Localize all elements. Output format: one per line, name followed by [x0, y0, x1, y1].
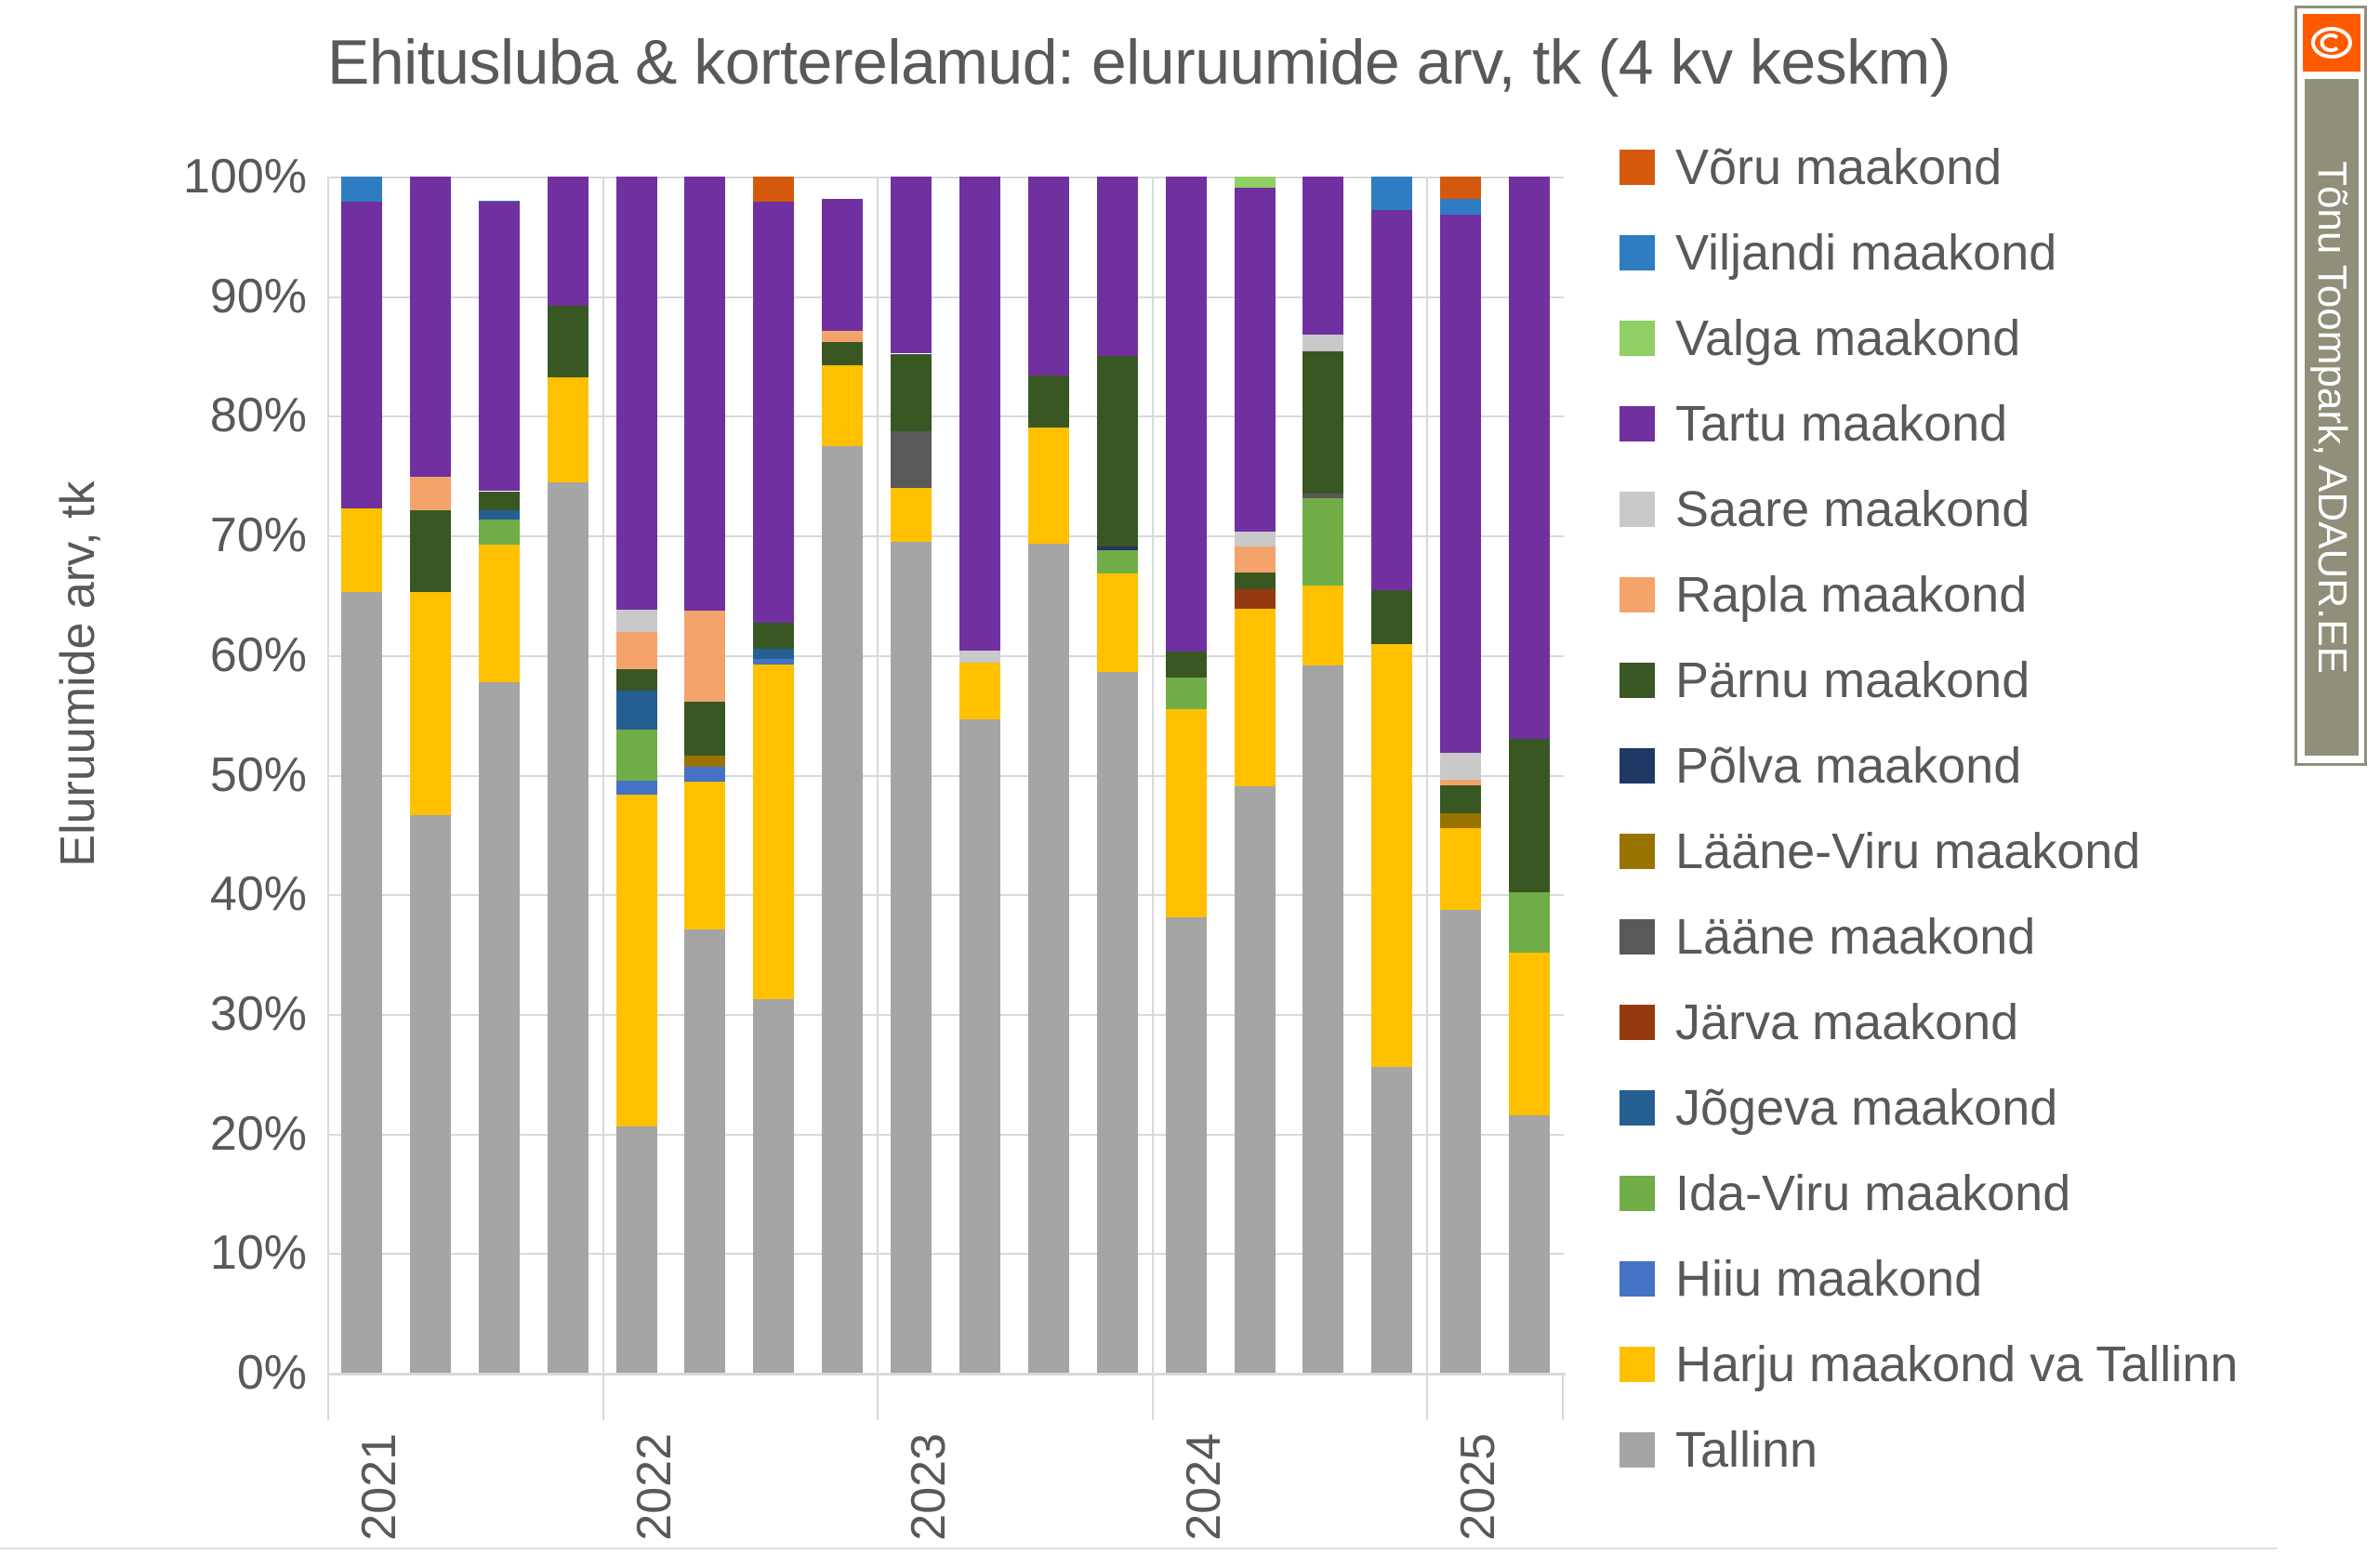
bar-segment[interactable]	[1235, 188, 1276, 533]
bar-2021Q2[interactable]	[410, 177, 451, 1373]
bar-segment[interactable]	[1166, 177, 1207, 652]
bar-segment[interactable]	[1166, 917, 1207, 1373]
bar-segment[interactable]	[479, 492, 520, 511]
bar-segment[interactable]	[1440, 177, 1481, 199]
legend-swatch-icon	[1620, 1005, 1655, 1040]
y-tick-label: 50%	[112, 751, 307, 799]
legend-item-harju-maakond-va-tallinn[interactable]: Harju maakond va Tallinn	[1620, 1337, 2238, 1392]
bar-segment[interactable]	[341, 508, 382, 592]
legend-swatch-icon	[1620, 150, 1655, 185]
bar-segment[interactable]	[1235, 573, 1276, 589]
legend-item-p-rnu-maakond[interactable]: Pärnu maakond	[1620, 652, 2030, 708]
y-axis-title: Eluruumide arv, tk	[46, 414, 111, 934]
bar-2022Q4[interactable]	[822, 177, 863, 1373]
x-tick-label-2025: 2025	[1454, 1433, 1502, 1541]
bar-2023Q2[interactable]	[959, 177, 1000, 1373]
bar-segment[interactable]	[1028, 428, 1069, 544]
bar-segment[interactable]	[1028, 177, 1069, 375]
bar-segment[interactable]	[753, 665, 794, 999]
bar-segment[interactable]	[1097, 573, 1138, 672]
bar-segment[interactable]	[822, 365, 863, 445]
legend-item-v-ru-maakond[interactable]: Võru maakond	[1620, 139, 2002, 195]
legend-swatch-icon	[1620, 1261, 1655, 1297]
bar-segment[interactable]	[891, 354, 932, 432]
bar-segment[interactable]	[1097, 547, 1138, 550]
y-tick-label: 100%	[112, 152, 307, 201]
bar-segment[interactable]	[616, 795, 657, 1126]
bar-segment[interactable]	[1440, 910, 1481, 1373]
bar-segment[interactable]	[1509, 892, 1550, 954]
bar-segment[interactable]	[1235, 532, 1276, 546]
y-tick-label: 80%	[112, 391, 307, 440]
legend-label: Viljandi maakond	[1675, 225, 2056, 281]
bar-segment[interactable]	[753, 659, 794, 665]
bar-segment[interactable]	[479, 545, 520, 682]
bar-segment[interactable]	[1509, 1115, 1550, 1373]
bar-2022Q2[interactable]	[684, 177, 725, 1373]
x-tick-mark	[1562, 1376, 1564, 1420]
legend-item-j-rva-maakond[interactable]: Järva maakond	[1620, 994, 2018, 1050]
legend-swatch-icon	[1620, 663, 1655, 698]
bar-segment[interactable]	[959, 663, 1000, 720]
x-tick-label-2024: 2024	[1180, 1433, 1228, 1541]
bar-segment[interactable]	[410, 477, 451, 510]
bar-segment[interactable]	[616, 632, 657, 669]
bar-segment[interactable]	[822, 446, 863, 1373]
bar-segment[interactable]	[684, 177, 725, 611]
watermark-bar: Tõnu Toompark, ADAUR.EE	[2303, 77, 2360, 757]
x-tick-label-2022: 2022	[630, 1433, 679, 1541]
legend-label: Saare maakond	[1675, 481, 2030, 537]
bar-segment[interactable]	[1509, 953, 1550, 1115]
bar-segment[interactable]	[616, 177, 657, 610]
legend-swatch-icon	[1620, 577, 1655, 612]
legend-swatch-icon	[1620, 1090, 1655, 1126]
bar-segment[interactable]	[1235, 589, 1276, 609]
legend-label: Valga maakond	[1675, 310, 2020, 366]
y-tick-label: 60%	[112, 631, 307, 679]
legend-item-j-geva-maakond[interactable]: Jõgeva maakond	[1620, 1080, 2057, 1136]
legend-swatch-icon	[1620, 235, 1655, 270]
bar-segment[interactable]	[1371, 590, 1412, 644]
bar-segment[interactable]	[1509, 177, 1550, 739]
bar-segment[interactable]	[410, 510, 451, 592]
watermark: Tõnu Toompark, ADAUR.EE	[2294, 6, 2367, 766]
copyright-icon	[2303, 14, 2360, 72]
legend-label: Hiiu maakond	[1675, 1251, 1982, 1307]
bar-2023Q1[interactable]	[891, 177, 932, 1373]
y-tick-label: 30%	[112, 990, 307, 1038]
legend-item-hiiu-maakond[interactable]: Hiiu maakond	[1620, 1251, 1982, 1307]
bar-segment[interactable]	[1302, 335, 1343, 351]
bar-segment[interactable]	[753, 177, 794, 202]
legend-label: Ida-Viru maakond	[1675, 1165, 2070, 1221]
bar-segment[interactable]	[1302, 351, 1343, 494]
bar-2022Q1[interactable]	[616, 177, 657, 1373]
bar-segment[interactable]	[1302, 665, 1343, 1373]
bar-segment[interactable]	[822, 331, 863, 342]
legend-item-l-ne-maakond[interactable]: Lääne maakond	[1620, 909, 2035, 965]
bar-segment[interactable]	[548, 482, 588, 1373]
bar-segment[interactable]	[410, 592, 451, 816]
bar-segment[interactable]	[616, 1126, 657, 1373]
bar-segment[interactable]	[410, 815, 451, 1373]
bar-segment[interactable]	[1302, 586, 1343, 665]
bar-segment[interactable]	[1097, 177, 1138, 356]
bar-segment[interactable]	[684, 929, 725, 1373]
y-tick-label: 90%	[112, 272, 307, 321]
bar-segment[interactable]	[616, 781, 657, 795]
legend-swatch-icon	[1620, 492, 1655, 527]
legend-label: Pärnu maakond	[1675, 652, 2030, 708]
bar-2024Q1[interactable]	[1166, 177, 1207, 1373]
bar-2021Q4[interactable]	[548, 177, 588, 1373]
bar-2025Q1[interactable]	[1440, 177, 1481, 1373]
bar-segment[interactable]	[1235, 609, 1276, 787]
legend-item-tartu-maakond[interactable]: Tartu maakond	[1620, 396, 2007, 452]
chart-bottom-rule	[0, 1547, 2278, 1549]
bar-segment[interactable]	[959, 651, 1000, 663]
bar-segment[interactable]	[479, 682, 520, 1373]
x-tick-mark	[1426, 1376, 1428, 1420]
x-tick-mark	[877, 1376, 879, 1420]
bar-segment[interactable]	[891, 488, 932, 542]
legend-item-viljandi-maakond[interactable]: Viljandi maakond	[1620, 225, 2056, 281]
legend-label: Lääne maakond	[1675, 909, 2035, 965]
bar-segment[interactable]	[753, 649, 794, 658]
y-tick-label: 20%	[112, 1110, 307, 1158]
bar-2024Q2[interactable]	[1235, 177, 1276, 1373]
bar-segment[interactable]	[1166, 678, 1207, 708]
legend-item-tallinn[interactable]: Tallinn	[1620, 1422, 1818, 1478]
bar-segment[interactable]	[1440, 813, 1481, 829]
group-separator	[327, 177, 329, 1373]
page-title: Ehitusluba & korterelamud: eluruumide ar…	[167, 20, 2110, 104]
bar-segment[interactable]	[548, 377, 588, 482]
bar-segment[interactable]	[684, 782, 725, 928]
bar-segment[interactable]	[341, 177, 382, 202]
bar-segment[interactable]	[1235, 786, 1276, 1373]
bar-segment[interactable]	[616, 669, 657, 691]
bar-segment[interactable]	[1440, 780, 1481, 785]
bar-segment[interactable]	[959, 177, 1000, 651]
x-tick-label-2023: 2023	[905, 1433, 953, 1541]
bar-segment[interactable]	[1235, 547, 1276, 573]
bar-segment[interactable]	[891, 431, 932, 487]
bar-segment[interactable]	[479, 201, 520, 202]
bar-segment[interactable]	[1302, 177, 1343, 335]
legend-label: Harju maakond va Tallinn	[1675, 1337, 2238, 1392]
chart-page: Ehitusluba & korterelamud: eluruumide ar…	[0, 0, 2380, 1554]
legend-label: Jõgeva maakond	[1675, 1080, 2057, 1136]
legend-label: Tallinn	[1675, 1422, 1818, 1478]
bar-segment[interactable]	[684, 756, 725, 767]
legend-swatch-icon	[1620, 1347, 1655, 1382]
legend-label: Tartu maakond	[1675, 396, 2007, 452]
legend: Võru maakondViljandi maakondValga maakon…	[1620, 139, 2270, 1515]
bar-segment[interactable]	[1371, 1067, 1412, 1373]
bar-segment[interactable]	[1097, 672, 1138, 1373]
bar-segment[interactable]	[1302, 498, 1343, 586]
y-tick-label: 70%	[112, 511, 307, 560]
group-separator	[1426, 177, 1428, 1373]
legend-label: Järva maakond	[1675, 994, 2018, 1050]
bar-segment[interactable]	[1509, 739, 1550, 892]
bar-segment[interactable]	[1440, 215, 1481, 753]
bar-segment[interactable]	[959, 719, 1000, 1373]
bar-2025Q2[interactable]	[1509, 177, 1550, 1373]
y-tick-label: 10%	[112, 1229, 307, 1277]
legend-item-rapla-maakond[interactable]: Rapla maakond	[1620, 567, 2027, 623]
bar-segment[interactable]	[1028, 375, 1069, 428]
bar-segment[interactable]	[1371, 177, 1412, 210]
bar-2021Q1[interactable]	[341, 177, 382, 1373]
bar-segment[interactable]	[753, 623, 794, 649]
legend-item-l-ne-viru-maakond[interactable]: Lääne-Viru maakond	[1620, 823, 2140, 879]
bar-segment[interactable]	[1097, 550, 1138, 574]
bar-segment[interactable]	[479, 202, 520, 491]
bar-2023Q3[interactable]	[1028, 177, 1069, 1373]
bar-segment[interactable]	[1440, 199, 1481, 215]
y-tick-label: 0%	[112, 1349, 307, 1397]
legend-swatch-icon	[1620, 919, 1655, 955]
legend-swatch-icon	[1620, 1432, 1655, 1468]
y-axis-tick-labels: 100%90%80%70%60%50%40%30%20%10%0%	[112, 144, 307, 1408]
bar-segment[interactable]	[891, 177, 932, 353]
legend-label: Lääne-Viru maakond	[1675, 823, 2140, 879]
bar-segment[interactable]	[1166, 709, 1207, 917]
x-tick-label-2021: 2021	[355, 1433, 403, 1541]
legend-swatch-icon	[1620, 748, 1655, 784]
bar-segment[interactable]	[822, 199, 863, 331]
bar-segment[interactable]	[753, 202, 794, 623]
bar-segment[interactable]	[822, 342, 863, 366]
bar-segment[interactable]	[684, 767, 725, 783]
group-separator	[877, 177, 879, 1373]
legend-label: Rapla maakond	[1675, 567, 2027, 623]
bar-segment[interactable]	[341, 592, 382, 1373]
bar-segment[interactable]	[1371, 644, 1412, 1066]
bar-segment[interactable]	[410, 177, 451, 477]
x-tick-mark	[327, 1376, 329, 1420]
legend-swatch-icon	[1620, 321, 1655, 356]
bar-segment[interactable]	[753, 999, 794, 1373]
bar-segment[interactable]	[1440, 828, 1481, 910]
watermark-text: Tõnu Toompark, ADAUR.EE	[2303, 83, 2360, 752]
legend-item-valga-maakond[interactable]: Valga maakond	[1620, 310, 2020, 366]
bar-segment[interactable]	[1440, 753, 1481, 779]
bar-segment[interactable]	[1371, 210, 1412, 590]
legend-swatch-icon	[1620, 406, 1655, 441]
y-tick-label: 40%	[112, 870, 307, 918]
bar-segment[interactable]	[548, 306, 588, 377]
bar-segment[interactable]	[479, 510, 520, 520]
bar-segment[interactable]	[548, 177, 588, 306]
bar-segment[interactable]	[616, 610, 657, 632]
bar-segment[interactable]	[1302, 494, 1343, 498]
legend-swatch-icon	[1620, 834, 1655, 869]
plot-area	[327, 177, 1564, 1373]
bar-segment[interactable]	[1440, 785, 1481, 813]
bar-segment[interactable]	[616, 730, 657, 781]
bar-segment[interactable]	[1028, 544, 1069, 1373]
bar-segment[interactable]	[1097, 356, 1138, 547]
legend-label: Põlva maakond	[1675, 738, 2021, 794]
bar-segment[interactable]	[616, 691, 657, 729]
legend-item-saare-maakond[interactable]: Saare maakond	[1620, 481, 2030, 537]
group-separator	[1152, 177, 1154, 1373]
bar-segment[interactable]	[891, 542, 932, 1373]
bar-segment[interactable]	[341, 202, 382, 507]
legend-label: Võru maakond	[1675, 139, 2002, 195]
bar-2024Q3[interactable]	[1302, 177, 1343, 1373]
bar-segment[interactable]	[1166, 652, 1207, 678]
x-tick-mark	[602, 1376, 604, 1420]
x-axis: 20212022202320242025	[327, 1376, 1566, 1552]
bar-segment[interactable]	[479, 520, 520, 545]
legend-item-ida-viru-maakond[interactable]: Ida-Viru maakond	[1620, 1165, 2070, 1221]
bar-segment[interactable]	[1235, 177, 1276, 188]
x-tick-mark	[1152, 1376, 1154, 1420]
group-separator	[602, 177, 604, 1373]
bar-2023Q4[interactable]	[1097, 177, 1138, 1373]
bar-2021Q3[interactable]	[479, 177, 520, 1373]
legend-swatch-icon	[1620, 1176, 1655, 1211]
bar-2024Q4[interactable]	[1371, 177, 1412, 1373]
bar-segment[interactable]	[684, 702, 725, 756]
bar-2022Q3[interactable]	[753, 177, 794, 1373]
bar-segment[interactable]	[684, 611, 725, 702]
legend-item-p-lva-maakond[interactable]: Põlva maakond	[1620, 738, 2021, 794]
